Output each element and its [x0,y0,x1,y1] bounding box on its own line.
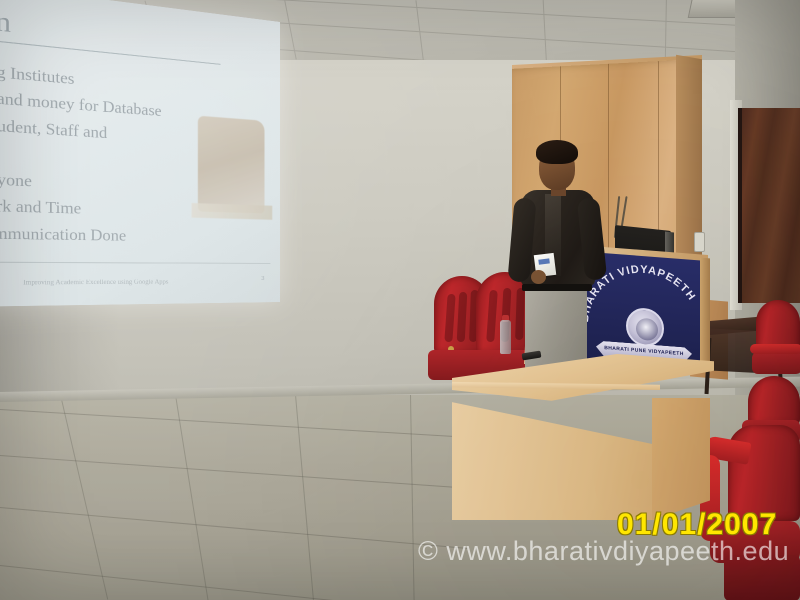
window-panel [738,108,800,303]
slide-image-books [198,116,265,214]
slide-footer-rule [0,261,270,264]
slide-footer: Improving Academic Excellence using Goog… [0,278,202,288]
presenter-hair [536,140,578,164]
projection-screen: ction tition among Institutes Large time… [0,0,280,307]
water-bottle [500,320,511,354]
podium-right-edge [700,258,710,371]
watermark: © www.bharativdiyapeeth.edu [418,536,789,567]
photograph: ction tition among Institutes Large time… [0,0,800,600]
slide-page-number: 3 [261,276,264,282]
presenter-belt [522,284,592,291]
power-socket[interactable] [694,232,705,252]
presenter [505,138,615,368]
red-chair-right-upper[interactable] [752,300,800,386]
table-side-panel [652,398,710,520]
presenter-hand [531,270,546,284]
